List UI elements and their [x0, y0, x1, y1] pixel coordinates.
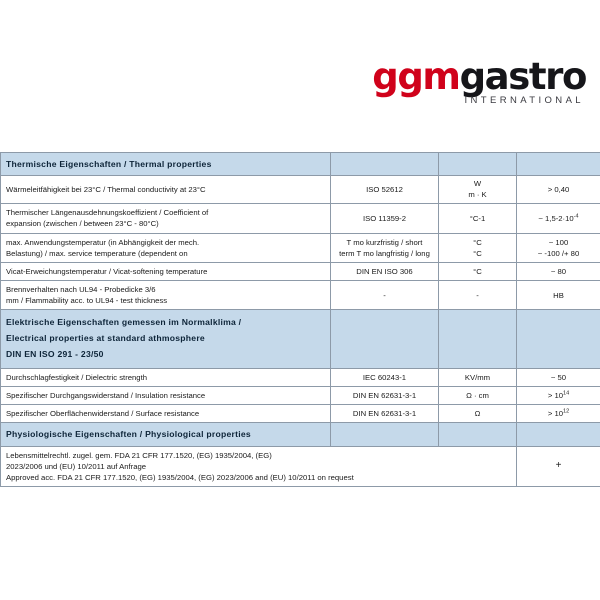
unit-value: KV/mm: [439, 369, 517, 387]
section-title-physiological: Physiologische Eigenschaften / Physiolog…: [1, 423, 331, 446]
property-line-1: Brennverhalten nach UL94 - Probedicke 3/…: [6, 285, 156, 294]
table-row: Brennverhalten nach UL94 - Probedicke 3/…: [1, 281, 600, 310]
measurement-value: +: [517, 446, 600, 486]
section-title-thermal: Thermische Eigenschaften / Thermal prope…: [1, 153, 331, 176]
unit-value: -: [439, 281, 517, 310]
unit-value: °C: [439, 262, 517, 280]
unit-value: Ω · cm: [439, 387, 517, 405]
property-label: Vicat-Erweichungstemperatur / Vicat-soft…: [1, 262, 331, 280]
property-label: Durchschlagfestigkeit / Dielectric stren…: [1, 369, 331, 387]
property-line-2: expansion (zwischen / between 23°C - 80°…: [6, 219, 159, 228]
standard-value: DIN EN 62631-3-1: [331, 387, 439, 405]
logo-wordmark: ggmgastro: [372, 58, 586, 95]
table-row: Thermischer Längenausdehnungskoeffizient…: [1, 204, 600, 233]
value-line-2: ~ -100 /+ 80: [538, 249, 579, 258]
measurement-value: ~ 50: [517, 369, 600, 387]
table-row: Spezifischer Durchgangswiderstand / Insu…: [1, 387, 600, 405]
property-line-1: Thermischer Längenausdehnungskoeffizient…: [6, 208, 208, 217]
value-base: > 10: [548, 409, 563, 418]
section-spacer-value: [517, 423, 600, 446]
measurement-value: > 1014: [517, 387, 600, 405]
standard-value: ISO 52612: [331, 176, 439, 204]
property-line-2: Belastung) / max. service temperature (d…: [6, 249, 188, 258]
property-label: Wärmeleitfähigkeit bei 23°C / Thermal co…: [1, 176, 331, 204]
table-row: Durchschlagfestigkeit / Dielectric stren…: [1, 369, 600, 387]
section-spacer-standard: [331, 423, 439, 446]
property-label: Lebensmittelrechtl. zugel. gem. FDA 21 C…: [1, 446, 517, 486]
table-row: Wärmeleitfähigkeit bei 23°C / Thermal co…: [1, 176, 600, 204]
value-exponent: -4: [574, 213, 579, 219]
fraction-unit: W m · K: [468, 179, 486, 200]
unit-line-2: °C: [473, 249, 482, 258]
property-label: Spezifischer Durchgangswiderstand / Insu…: [1, 387, 331, 405]
property-label: Spezifischer Oberflächenwiderstand / Sur…: [1, 405, 331, 423]
measurement-value: ~ 100 ~ -100 /+ 80: [517, 233, 600, 262]
section-title-line-2: Electrical properties at standard athmos…: [6, 333, 205, 343]
unit-line-1: °C: [473, 238, 482, 247]
table-row: Spezifischer Oberflächenwiderstand / Sur…: [1, 405, 600, 423]
property-line-1: max. Anwendungstemperatur (in Abhängigke…: [6, 238, 199, 247]
measurement-value: ~ 1,5-2·10-4: [517, 204, 600, 233]
value-exponent: 12: [563, 409, 569, 415]
property-label: max. Anwendungstemperatur (in Abhängigke…: [1, 233, 331, 262]
datasheet-page: ggmgastro INTERNATIONAL Thermische Eigen…: [0, 0, 600, 600]
standard-line-2: term T mo langfristig / long: [339, 249, 430, 258]
property-line-3: Approved acc. FDA 21 CFR 177.1520, (EG) …: [6, 473, 354, 482]
section-title-line-1: Elektrische Eigenschaften gemessen im No…: [6, 317, 241, 327]
section-header-electrical: Elektrische Eigenschaften gemessen im No…: [1, 310, 600, 369]
standard-value: DIN EN ISO 306: [331, 262, 439, 280]
specifications-table: Thermische Eigenschaften / Thermal prope…: [0, 152, 600, 487]
unit-value: Ω: [439, 405, 517, 423]
measurement-value: HB: [517, 281, 600, 310]
section-header-physiological: Physiologische Eigenschaften / Physiolog…: [1, 423, 600, 446]
standard-line-1: T mo kurzfristig / short: [347, 238, 423, 247]
value-exponent: 14: [563, 391, 569, 397]
property-line-2: mm / Flammability acc. to UL94 - test th…: [6, 296, 167, 305]
table-row: Vicat-Erweichungstemperatur / Vicat-soft…: [1, 262, 600, 280]
property-label: Brennverhalten nach UL94 - Probedicke 3/…: [1, 281, 331, 310]
table-row: Lebensmittelrechtl. zugel. gem. FDA 21 C…: [1, 446, 600, 486]
section-spacer-unit: [439, 310, 517, 369]
property-line-2: 2023/2006 und (EU) 10/2011 auf Anfrage: [6, 462, 146, 471]
standard-value: ISO 11359-2: [331, 204, 439, 233]
section-spacer-value: [517, 153, 600, 176]
unit-value: W m · K: [439, 176, 517, 204]
unit-value: °C °C: [439, 233, 517, 262]
section-spacer-value: [517, 310, 600, 369]
standard-value: IEC 60243-1: [331, 369, 439, 387]
measurement-value: ~ 80: [517, 262, 600, 280]
section-spacer-unit: [439, 423, 517, 446]
measurement-value: > 0,40: [517, 176, 600, 204]
section-title-line-3: DIN EN ISO 291 - 23/50: [6, 349, 104, 359]
section-title-electrical: Elektrische Eigenschaften gemessen im No…: [1, 310, 331, 369]
standard-value: DIN EN 62631-3-1: [331, 405, 439, 423]
fraction-denominator: m · K: [468, 190, 486, 200]
table-row: max. Anwendungstemperatur (in Abhängigke…: [1, 233, 600, 262]
value-base: ~ 1,5-2·10: [538, 214, 573, 223]
logo-brand-secondary: gastro: [460, 55, 586, 98]
section-spacer-unit: [439, 153, 517, 176]
standard-value: T mo kurzfristig / short term T mo langf…: [331, 233, 439, 262]
measurement-value: > 1012: [517, 405, 600, 423]
section-spacer-standard: [331, 153, 439, 176]
section-header-thermal: Thermische Eigenschaften / Thermal prope…: [1, 153, 600, 176]
value-base: > 10: [548, 391, 563, 400]
unit-value: °C-1: [439, 204, 517, 233]
logo-brand-primary: ggm: [372, 55, 459, 98]
standard-value: -: [331, 281, 439, 310]
property-label: Thermischer Längenausdehnungskoeffizient…: [1, 204, 331, 233]
fraction-numerator: W: [468, 179, 486, 189]
company-logo: ggmgastro INTERNATIONAL: [372, 58, 586, 106]
section-spacer-standard: [331, 310, 439, 369]
value-line-1: ~ 100: [549, 238, 568, 247]
property-line-1: Lebensmittelrechtl. zugel. gem. FDA 21 C…: [6, 451, 272, 460]
